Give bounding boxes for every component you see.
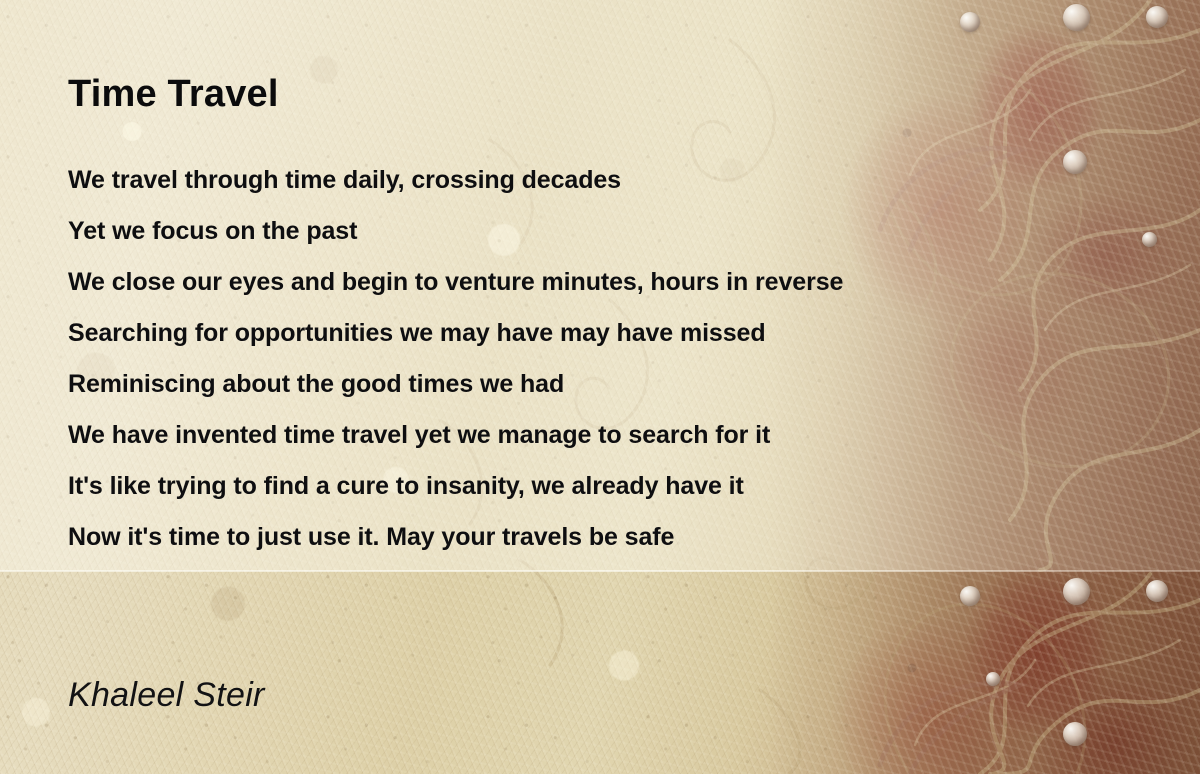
poem-line: Reminiscing about the good times we had — [68, 359, 1148, 410]
poem-line: We close our eyes and begin to venture m… — [68, 257, 1148, 308]
poem-body: We travel through time daily, crossing d… — [68, 155, 1148, 563]
poem-line: Now it's time to just use it. May your t… — [68, 512, 1148, 563]
poem-line: Searching for opportunities we may have … — [68, 308, 1148, 359]
poem-line: We have invented time travel yet we mana… — [68, 410, 1148, 461]
poem-line: Yet we focus on the past — [68, 206, 1148, 257]
poem-author: Khaleel Steir — [68, 676, 265, 715]
poem-line: We travel through time daily, crossing d… — [68, 155, 1148, 206]
page-title: Time Travel — [68, 73, 279, 116]
poem-line: It's like trying to find a cure to insan… — [68, 461, 1148, 512]
poem-card: Time Travel We travel through time daily… — [0, 0, 1200, 774]
